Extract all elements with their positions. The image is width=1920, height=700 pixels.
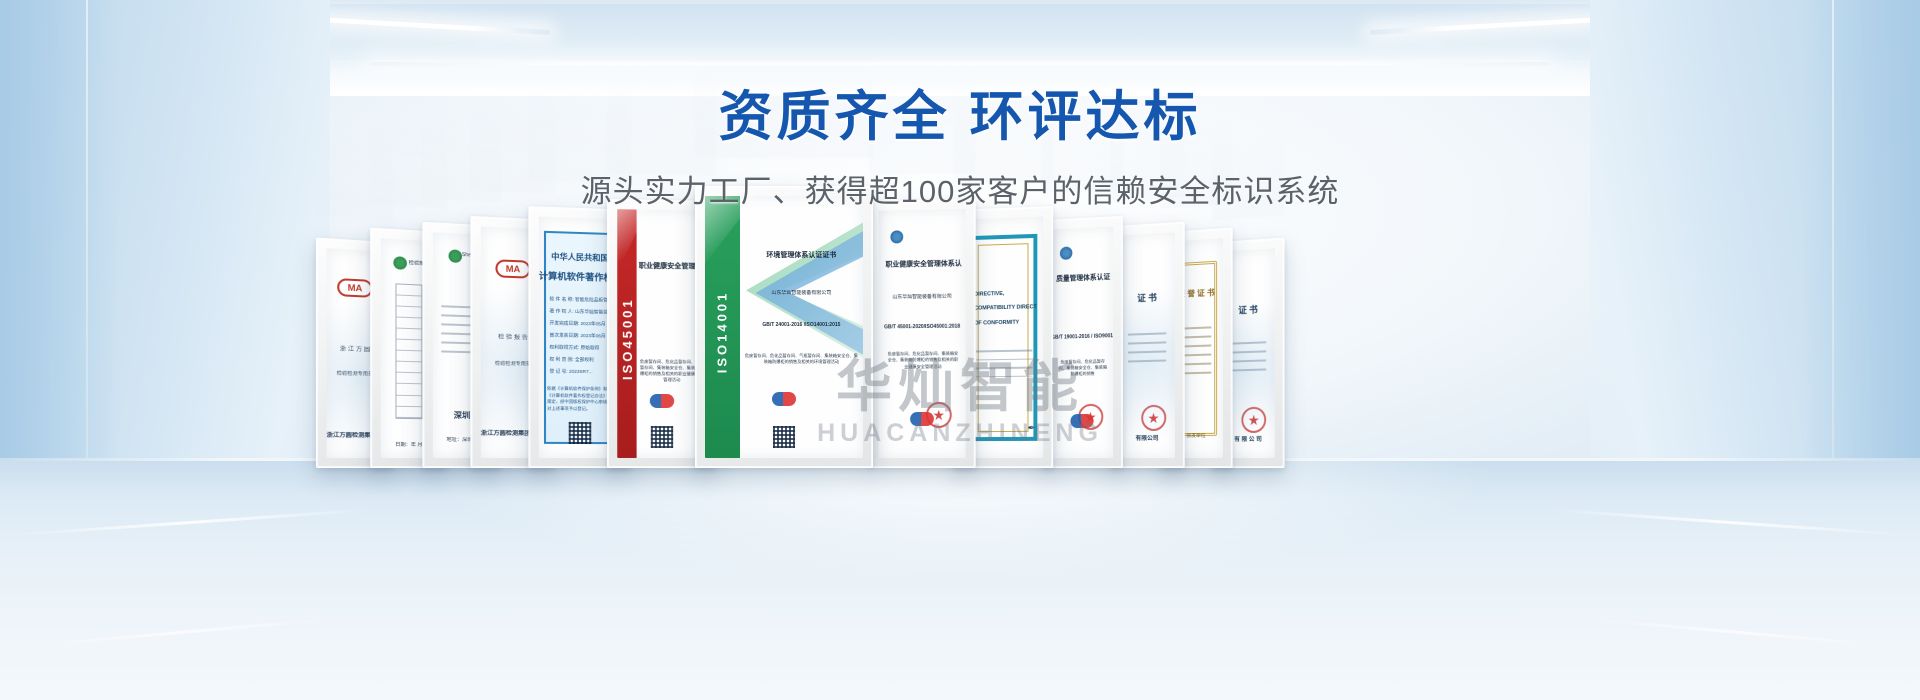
certificate-frame[interactable]: 职业健康安全管理体系认证证书 山东华灿智能装备有限公司 GB/T 45001-2… bbox=[869, 199, 976, 468]
certificate-paper: ISO14001 环境管理体系认证证书 山东华灿智能装备有限公司 GB/T 24… bbox=[705, 196, 863, 458]
banner-headings: 资质齐全 环评达标 源头实力工厂、获得超100家客户的信赖安全标识系统 bbox=[0, 86, 1920, 211]
certificate-frame[interactable]: 质量管理体系认证证书 GB/T 19001-2016 / ISO9001:201… bbox=[1042, 216, 1123, 468]
accreditation-logo-icon bbox=[1060, 247, 1072, 261]
banner-stage: 资质齐全 环评达标 源头实力工厂、获得超100家客户的信赖安全标识系统 MA 浙… bbox=[0, 0, 1920, 700]
certificate-paper: 证 书 ★ 有限公司 bbox=[1119, 232, 1175, 458]
certificate-paper: 质量管理体系认证证书 GB/T 19001-2016 / ISO9001:201… bbox=[1051, 226, 1113, 458]
floor-glow bbox=[210, 460, 1710, 700]
banner-subtitle: 源头实力工厂、获得超100家客户的信赖安全标识系统 bbox=[0, 166, 1920, 211]
floor bbox=[0, 458, 1920, 700]
banner-title: 资质齐全 环评达标 bbox=[0, 86, 1920, 150]
company-logo-icon bbox=[1070, 414, 1093, 428]
certificate-paper: 职业健康安全管理体系认证证书 山东华灿智能装备有限公司 GB/T 45001-2… bbox=[879, 209, 966, 458]
ce-detail-lines bbox=[976, 350, 1032, 385]
certificate-frame[interactable]: ISO14001 环境管理体系认证证书 山东华灿智能装备有限公司 GB/T 24… bbox=[695, 186, 873, 468]
iso-color-band: ISO14001 bbox=[705, 196, 740, 458]
certificate-paper: ISO45001 职业健康安全管理体系认证证书 危废暂存间、危化品暂存间、气瓶暂… bbox=[617, 209, 706, 458]
award-lines bbox=[1181, 327, 1211, 382]
company-logo-icon bbox=[910, 412, 934, 426]
qr-code-icon bbox=[651, 426, 673, 448]
qr-code-icon bbox=[569, 422, 592, 444]
company-logo-icon bbox=[772, 392, 796, 406]
iso-color-band: ISO45001 bbox=[617, 209, 637, 458]
qr-code-icon bbox=[773, 426, 795, 448]
ce-certificate-border bbox=[969, 234, 1038, 442]
company-logo-icon bbox=[650, 394, 674, 408]
accreditation-logo-icon bbox=[891, 230, 904, 243]
iso-standard-label: ISO14001 bbox=[715, 291, 730, 374]
iso-standard-label: ISO45001 bbox=[619, 297, 634, 380]
